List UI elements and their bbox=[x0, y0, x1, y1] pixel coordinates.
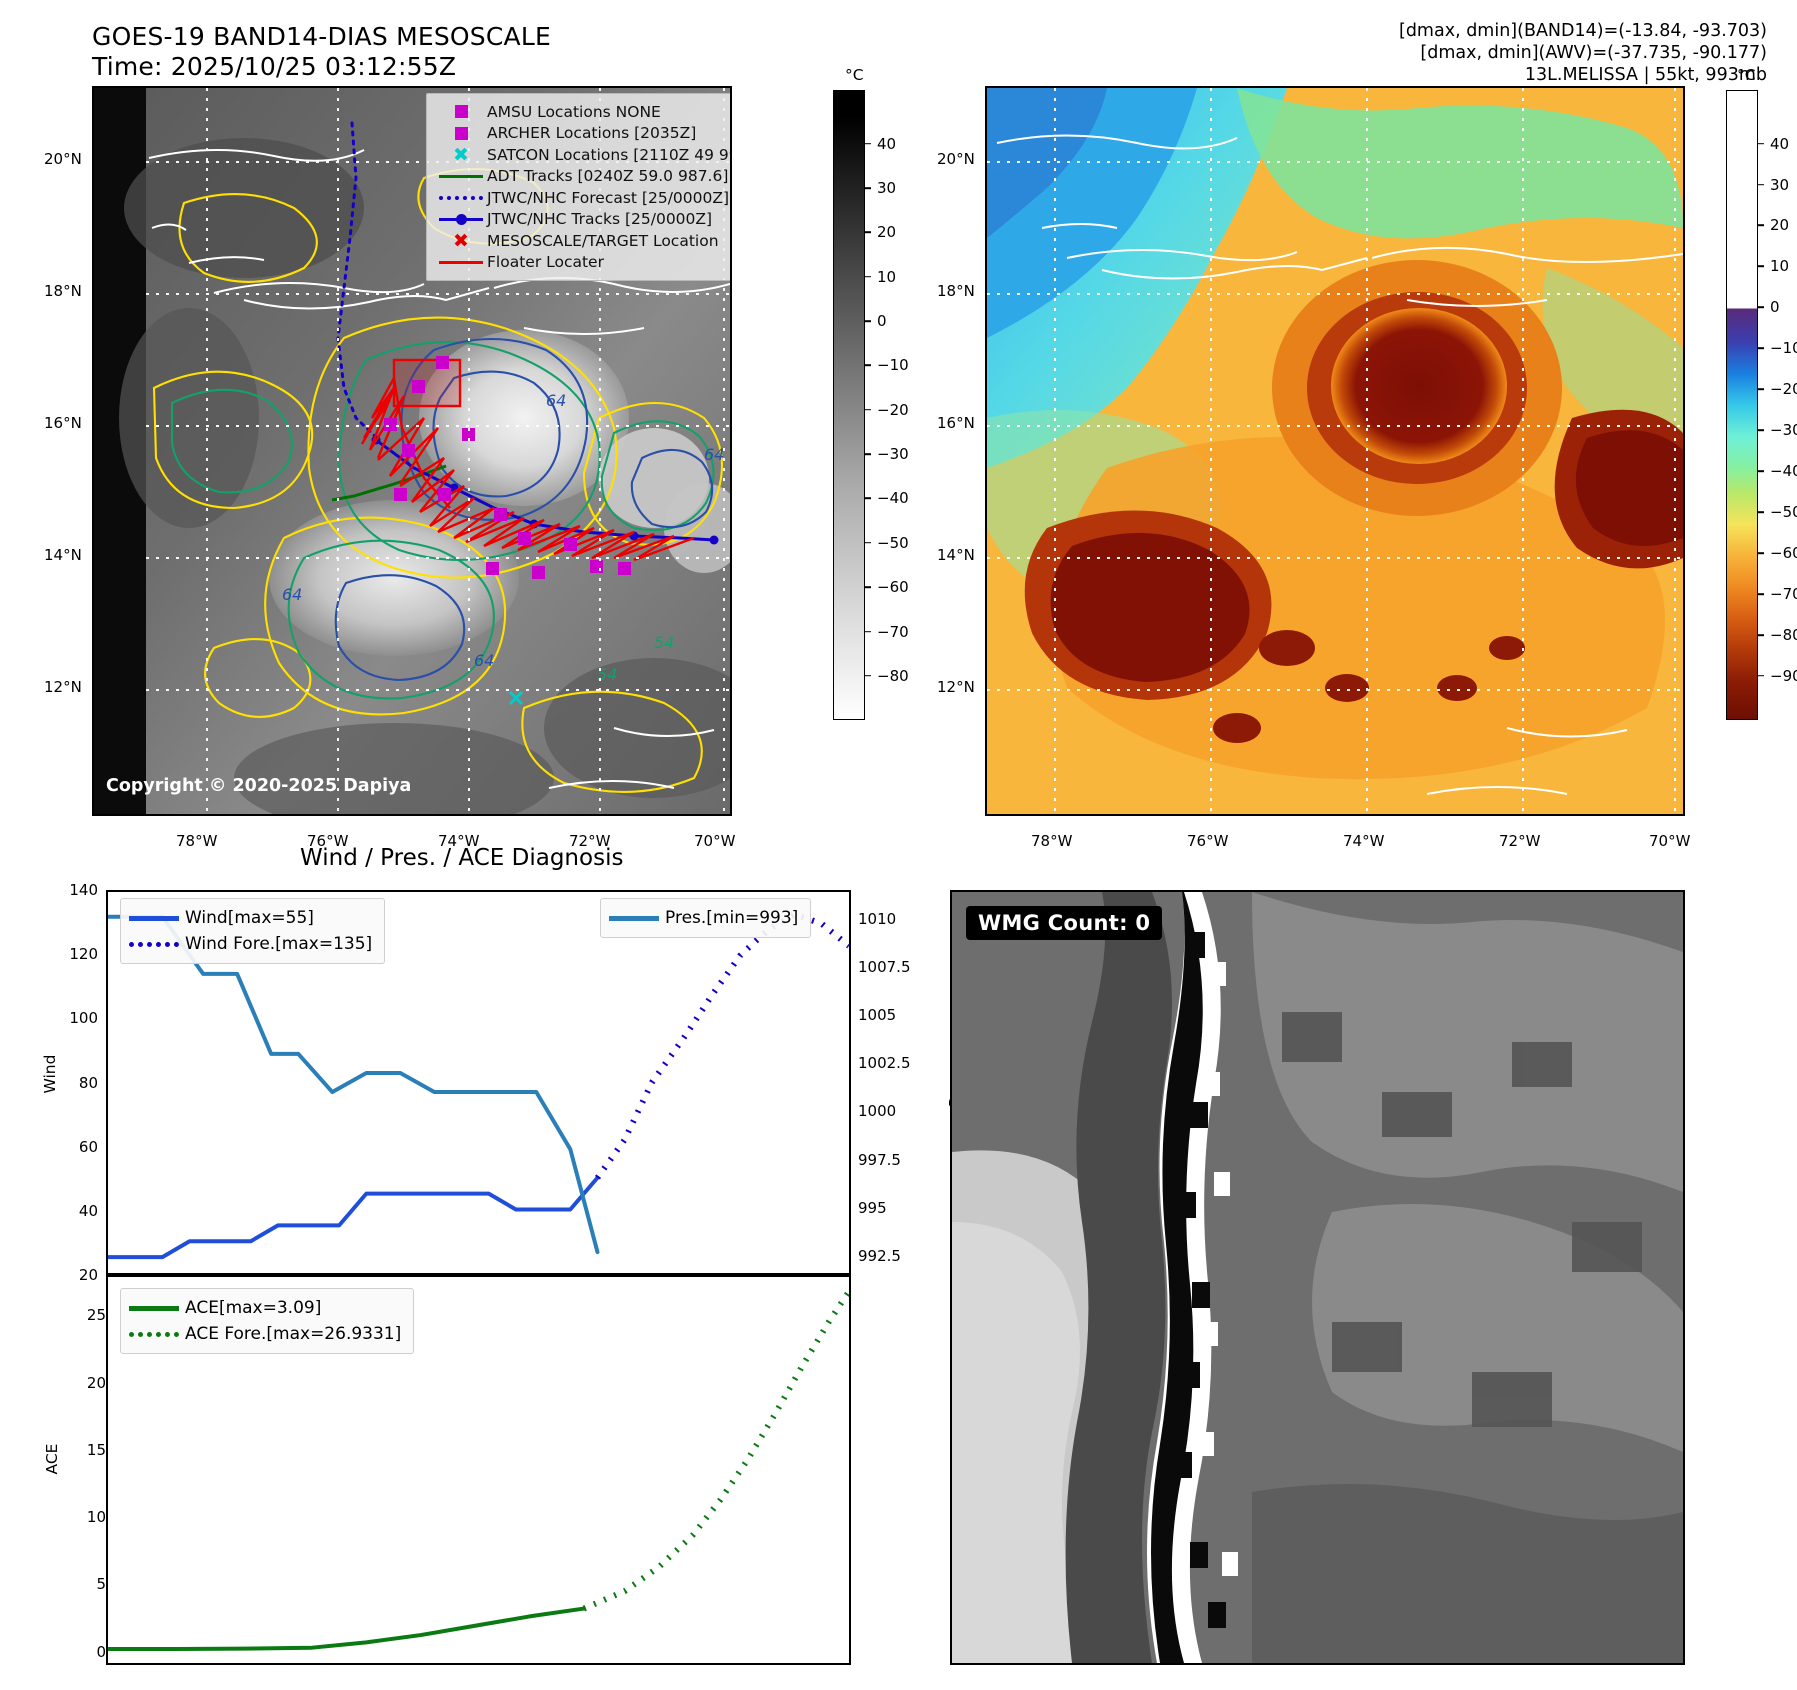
colorbar-tick-mark bbox=[1758, 266, 1764, 268]
colorbar-tick-mark bbox=[865, 187, 871, 189]
legend-item-ace-forecast[interactable]: ACE Fore.[max=26.9331] bbox=[129, 1321, 401, 1347]
axis-tick-label: 15 bbox=[46, 1441, 106, 1459]
series-line bbox=[108, 1609, 584, 1649]
colorbar-tick-label: 20 bbox=[877, 223, 896, 241]
colorbar-tick-label: −20 bbox=[877, 401, 909, 419]
colorbar-tick-label: −20 bbox=[1770, 380, 1797, 398]
series-line bbox=[597, 914, 849, 1178]
dmax-dmin-band14: [dmax, dmin](BAND14)=(-13.84, -93.703) bbox=[1127, 20, 1767, 42]
legend-item-ace[interactable]: ACE[max=3.09] bbox=[129, 1295, 401, 1321]
lat-tick: 20°N bbox=[937, 150, 975, 168]
colorbar-tick-mark bbox=[1758, 593, 1764, 595]
series-line bbox=[108, 1178, 597, 1257]
lon-tick: 74°W bbox=[1343, 832, 1384, 850]
lat-tick: 16°N bbox=[937, 414, 975, 432]
ir-colorbar-unit: °C bbox=[845, 66, 864, 84]
lon-tick: 76°W bbox=[1187, 832, 1228, 850]
colorbar-tick-label: 0 bbox=[1770, 298, 1780, 316]
colorbar-tick-label: −40 bbox=[1770, 462, 1797, 480]
lon-tick: 70°W bbox=[694, 832, 735, 850]
x-cyan-icon: ✖ bbox=[435, 149, 487, 161]
legend-label: Pres.[min=993] bbox=[665, 908, 798, 928]
colorbar-tick-label: 10 bbox=[877, 268, 896, 286]
legend-label: ADT Tracks [0240Z 59.0 987.6] bbox=[487, 167, 728, 185]
colorbar-tick-mark bbox=[1758, 143, 1764, 145]
line-steelblue-icon bbox=[609, 916, 665, 921]
lon-tick: 78°W bbox=[176, 832, 217, 850]
colorbar-tick-mark bbox=[1758, 307, 1764, 309]
line-dotted-green-icon bbox=[129, 1332, 185, 1337]
square-magenta-icon bbox=[435, 105, 487, 118]
colorbar-tick-label: 10 bbox=[1770, 257, 1789, 275]
awv-colorbar-unit: °C bbox=[1737, 66, 1756, 84]
legend-label: MESOSCALE/TARGET Location bbox=[487, 232, 719, 250]
colorbar-tick-mark bbox=[865, 231, 871, 233]
colorbar-tick-label: −80 bbox=[877, 667, 909, 685]
colorbar-tick-label: 30 bbox=[877, 179, 896, 197]
colorbar-tick-label: −40 bbox=[877, 489, 909, 507]
axis-tick-label: 40 bbox=[38, 1202, 98, 1220]
legend-label: JTWC/NHC Tracks [25/0000Z] bbox=[487, 210, 712, 228]
copyright-watermark: Copyright © 2020-2025 Dapiya bbox=[106, 776, 411, 796]
axis-tick-label: 995 bbox=[858, 1199, 918, 1217]
legend-item-amsu[interactable]: AMSU Locations NONE bbox=[435, 101, 725, 123]
legend-label: Floater Locater bbox=[487, 253, 604, 271]
lat-tick: 18°N bbox=[937, 282, 975, 300]
lon-tick: 72°W bbox=[1499, 832, 1540, 850]
colorbar-tick-mark bbox=[865, 276, 871, 278]
colorbar-tick-label: −10 bbox=[877, 356, 909, 374]
colorbar-tick-mark bbox=[865, 320, 871, 322]
axis-tick-label: 0 bbox=[46, 1643, 106, 1661]
wind-legend: Wind[max=55] Wind Fore.[max=135] bbox=[120, 898, 385, 964]
page-title: GOES-19 BAND14-DIAS MESOSCALE bbox=[92, 22, 551, 51]
dmax-dmin-awv: [dmax, dmin](AWV)=(-37.735, -90.177) bbox=[1127, 42, 1767, 64]
legend-label: SATCON Locations [2110Z 49 993] bbox=[487, 146, 732, 164]
colorbar-tick-mark bbox=[1758, 184, 1764, 186]
legend-item-wind-forecast[interactable]: Wind Fore.[max=135] bbox=[129, 931, 372, 957]
lat-tick: 14°N bbox=[44, 546, 82, 564]
wmg-canvas bbox=[952, 892, 1683, 1663]
storm-summary: 13L.MELISSA | 55kt, 993mb bbox=[1127, 64, 1767, 86]
legend-item-wind[interactable]: Wind[max=55] bbox=[129, 905, 372, 931]
legend-label: AMSU Locations NONE bbox=[487, 103, 661, 121]
wmg-panel[interactable]: WMG Count: 0 bbox=[950, 890, 1685, 1665]
legend-label: Wind Fore.[max=135] bbox=[185, 934, 372, 954]
awv-colorbar bbox=[1726, 90, 1758, 720]
axis-tick-label: 1007.5 bbox=[858, 958, 918, 976]
colorbar-tick-mark bbox=[865, 631, 871, 633]
colorbar-tick-label: −10 bbox=[1770, 339, 1797, 357]
colorbar-tick-label: −50 bbox=[877, 534, 909, 552]
colorbar-tick-label: 20 bbox=[1770, 216, 1789, 234]
line-marker-blue-icon bbox=[435, 218, 487, 221]
axis-tick-label: 1010 bbox=[858, 910, 918, 928]
legend-label: ACE[max=3.09] bbox=[185, 1298, 321, 1318]
line-dotted-blue-icon bbox=[435, 196, 487, 200]
colorbar-tick-mark bbox=[1758, 429, 1764, 431]
colorbar-tick-mark bbox=[865, 498, 871, 500]
colorbar-tick-label: 40 bbox=[877, 135, 896, 153]
legend-label: JTWC/NHC Forecast [25/0000Z] bbox=[487, 189, 729, 207]
ir-satellite-map[interactable]: 646464 64 5454 bbox=[92, 86, 732, 816]
stats-block: [dmax, dmin](BAND14)=(-13.84, -93.703) [… bbox=[1127, 20, 1767, 86]
colorbar-tick-mark bbox=[1758, 552, 1764, 554]
axis-tick-label: 120 bbox=[38, 945, 98, 963]
colorbar-tick-mark bbox=[865, 542, 871, 544]
lon-tick: 78°W bbox=[1031, 832, 1072, 850]
legend-item-jtwc-tracks[interactable]: JTWC/NHC Tracks [25/0000Z] bbox=[435, 209, 725, 231]
line-blue-icon bbox=[129, 916, 185, 921]
colorbar-tick-mark bbox=[1758, 348, 1764, 350]
diagnosis-title: Wind / Pres. / ACE Diagnosis bbox=[300, 845, 623, 871]
svg-text:64: 64 bbox=[474, 651, 494, 670]
axis-tick-label: 992.5 bbox=[858, 1247, 918, 1265]
legend-label: ARCHER Locations [2035Z] bbox=[487, 124, 696, 142]
colorbar-tick-label: 0 bbox=[877, 312, 887, 330]
svg-text:54: 54 bbox=[597, 665, 617, 684]
legend-item-adt[interactable]: ADT Tracks [0240Z 59.0 987.6] bbox=[435, 166, 725, 188]
lat-tick: 20°N bbox=[44, 150, 82, 168]
colorbar-tick-mark bbox=[1758, 511, 1764, 513]
ace-axis-label: ACE bbox=[43, 1399, 61, 1519]
axis-tick-label: 100 bbox=[38, 1009, 98, 1027]
ir-map-legend: AMSU Locations NONE ARCHER Locations [20… bbox=[426, 93, 732, 281]
legend-item-jtwc-forecast[interactable]: JTWC/NHC Forecast [25/0000Z] bbox=[435, 187, 725, 209]
axis-tick-label: 1002.5 bbox=[858, 1054, 918, 1072]
colorbar-tick-mark bbox=[865, 409, 871, 411]
axis-tick-label: 1000 bbox=[858, 1102, 918, 1120]
axis-tick-label: 60 bbox=[38, 1138, 98, 1156]
legend-label: ACE Fore.[max=26.9331] bbox=[185, 1324, 401, 1344]
legend-item-satcon[interactable]: ✖ SATCON Locations [2110Z 49 993] bbox=[435, 144, 725, 166]
colorbar-tick-label: −60 bbox=[877, 578, 909, 596]
svg-text:54: 54 bbox=[654, 633, 674, 652]
colorbar-tick-label: −30 bbox=[877, 445, 909, 463]
legend-item-archer[interactable]: ARCHER Locations [2035Z] bbox=[435, 123, 725, 145]
ace-legend: ACE[max=3.09] ACE Fore.[max=26.9331] bbox=[120, 1288, 414, 1354]
colorbar-tick-label: −50 bbox=[1770, 503, 1797, 521]
square-magenta-icon bbox=[435, 127, 487, 140]
line-green-icon bbox=[129, 1306, 185, 1311]
line-red-icon bbox=[435, 261, 487, 264]
colorbar-tick-mark bbox=[865, 586, 871, 588]
pressure-legend: Pres.[min=993] bbox=[600, 898, 811, 938]
colorbar-tick-label: 40 bbox=[1770, 135, 1789, 153]
ir-colorbar bbox=[833, 90, 865, 720]
lon-tick: 70°W bbox=[1649, 832, 1690, 850]
legend-item-pressure[interactable]: Pres.[min=993] bbox=[609, 905, 798, 931]
colorbar-tick-label: −70 bbox=[877, 623, 909, 641]
awv-satellite-map[interactable] bbox=[985, 86, 1685, 816]
colorbar-tick-label: −60 bbox=[1770, 544, 1797, 562]
colorbar-tick-mark bbox=[865, 675, 871, 677]
colorbar-tick-label: 30 bbox=[1770, 176, 1789, 194]
lat-tick: 12°N bbox=[44, 678, 82, 696]
colorbar-tick-mark bbox=[1758, 388, 1764, 390]
wmg-count-badge: WMG Count: 0 bbox=[966, 906, 1162, 940]
axis-tick-label: 25 bbox=[46, 1306, 106, 1324]
axis-tick-label: 20 bbox=[38, 1266, 98, 1284]
colorbar-tick-label: −30 bbox=[1770, 421, 1797, 439]
colorbar-tick-mark bbox=[1758, 675, 1764, 677]
lat-tick: 18°N bbox=[44, 282, 82, 300]
legend-item-mesoscale-target[interactable]: ✖ MESOSCALE/TARGET Location bbox=[435, 230, 725, 252]
line-green-icon bbox=[435, 175, 487, 178]
lat-tick: 14°N bbox=[937, 546, 975, 564]
colorbar-tick-mark bbox=[865, 143, 871, 145]
colorbar-tick-mark bbox=[865, 453, 871, 455]
colorbar-tick-label: −90 bbox=[1770, 667, 1797, 685]
axis-tick-label: 140 bbox=[38, 881, 98, 899]
series-line bbox=[584, 1291, 849, 1608]
axis-tick-label: 997.5 bbox=[858, 1151, 918, 1169]
axis-tick-label: 10 bbox=[46, 1508, 106, 1526]
lat-tick: 12°N bbox=[937, 678, 975, 696]
axis-tick-label: 20 bbox=[46, 1374, 106, 1392]
axis-tick-label: 1005 bbox=[858, 1006, 918, 1024]
colorbar-tick-label: −80 bbox=[1770, 626, 1797, 644]
lat-tick: 16°N bbox=[44, 414, 82, 432]
svg-text:64: 64 bbox=[546, 391, 566, 410]
legend-label: Wind[max=55] bbox=[185, 908, 314, 928]
timestamp-label: Time: 2025/10/25 03:12:55Z bbox=[92, 52, 456, 81]
colorbar-tick-mark bbox=[1758, 470, 1764, 472]
axis-tick-label: 80 bbox=[38, 1074, 98, 1092]
colorbar-tick-mark bbox=[865, 365, 871, 367]
svg-text:64: 64 bbox=[704, 445, 724, 464]
colorbar-tick-mark bbox=[1758, 634, 1764, 636]
series-line bbox=[108, 917, 597, 1252]
legend-item-floater-locater[interactable]: Floater Locater bbox=[435, 252, 725, 274]
axis-tick-label: 5 bbox=[46, 1575, 106, 1593]
x-red-icon: ✖ bbox=[435, 235, 487, 247]
colorbar-tick-label: −70 bbox=[1770, 585, 1797, 603]
awv-map-canvas bbox=[987, 88, 1683, 814]
svg-text:64: 64 bbox=[282, 585, 302, 604]
line-dotted-blue-icon bbox=[129, 942, 185, 947]
colorbar-tick-mark bbox=[1758, 225, 1764, 227]
